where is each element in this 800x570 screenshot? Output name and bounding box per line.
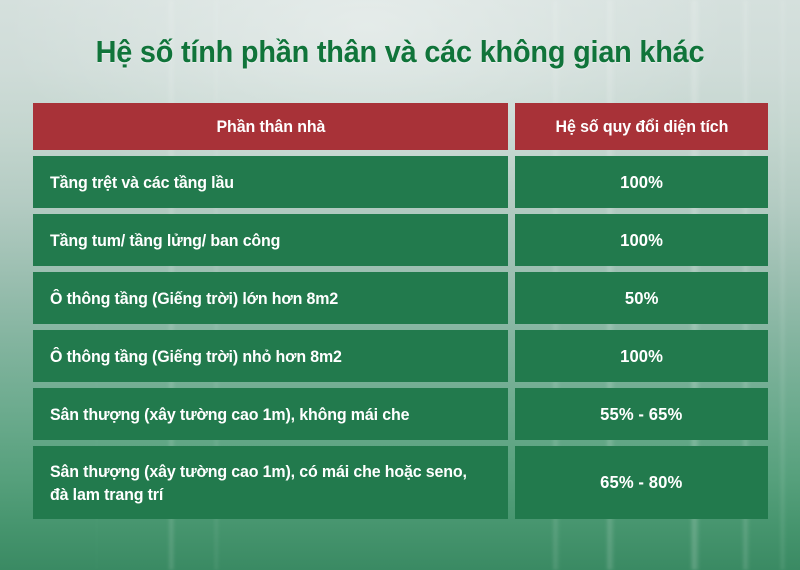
row-label-cell: Sân thượng (xây tường cao 1m), có mái ch… — [33, 446, 508, 519]
page-title: Hệ số tính phần thân và các không gian k… — [28, 32, 772, 72]
row-value-text: 100% — [620, 346, 663, 367]
row-label-cell: Ô thông tầng (Giếng trời) nhỏ hơn 8m2 — [33, 330, 508, 382]
row-value-text: 100% — [620, 230, 663, 251]
table-row: Tầng trệt và các tầng lầu 100% — [33, 156, 768, 208]
column-header-value-text: Hệ số quy đổi diện tích — [555, 117, 728, 137]
row-value-cell: 100% — [515, 156, 768, 208]
column-header-label: Phần thân nhà — [33, 103, 508, 150]
row-label-text: Tầng trệt và các tầng lầu — [50, 171, 234, 194]
table-row: Tầng tum/ tầng lửng/ ban công 100% — [33, 214, 768, 266]
table-row: Ô thông tầng (Giếng trời) lớn hơn 8m2 50… — [33, 272, 768, 324]
row-label-cell: Ô thông tầng (Giếng trời) lớn hơn 8m2 — [33, 272, 508, 324]
row-label-text: Sân thượng (xây tường cao 1m), có mái ch… — [50, 460, 481, 506]
row-label-text: Sân thượng (xây tường cao 1m), không mái… — [50, 403, 409, 426]
row-label-text: Ô thông tầng (Giếng trời) lớn hơn 8m2 — [50, 287, 338, 310]
row-label-cell: Tầng trệt và các tầng lầu — [33, 156, 508, 208]
row-value-text: 100% — [620, 172, 663, 193]
table-row: Sân thượng (xây tường cao 1m), có mái ch… — [33, 446, 768, 519]
row-value-cell: 50% — [515, 272, 768, 324]
coefficient-table: Phần thân nhà Hệ số quy đổi diện tích Tầ… — [33, 103, 768, 525]
row-label-text: Ô thông tầng (Giếng trời) nhỏ hơn 8m2 — [50, 345, 342, 368]
infographic-canvas: Hệ số tính phần thân và các không gian k… — [0, 0, 800, 570]
row-value-cell: 100% — [515, 330, 768, 382]
column-header-value: Hệ số quy đổi diện tích — [515, 103, 768, 150]
row-value-cell: 100% — [515, 214, 768, 266]
row-value-cell: 65% - 80% — [515, 446, 768, 519]
row-label-cell: Sân thượng (xây tường cao 1m), không mái… — [33, 388, 508, 440]
row-label-text: Tầng tum/ tầng lửng/ ban công — [50, 229, 280, 252]
row-value-cell: 55% - 65% — [515, 388, 768, 440]
table-header-row: Phần thân nhà Hệ số quy đổi diện tích — [33, 103, 768, 150]
table-body: Tầng trệt và các tầng lầu 100% Tầng tum/… — [33, 156, 768, 519]
table-row: Ô thông tầng (Giếng trời) nhỏ hơn 8m2 10… — [33, 330, 768, 382]
row-value-text: 55% - 65% — [600, 404, 682, 425]
row-label-cell: Tầng tum/ tầng lửng/ ban công — [33, 214, 508, 266]
column-header-label-text: Phần thân nhà — [216, 117, 325, 137]
table-row: Sân thượng (xây tường cao 1m), không mái… — [33, 388, 768, 440]
row-value-text: 50% — [625, 288, 659, 309]
row-value-text: 65% - 80% — [600, 472, 682, 493]
